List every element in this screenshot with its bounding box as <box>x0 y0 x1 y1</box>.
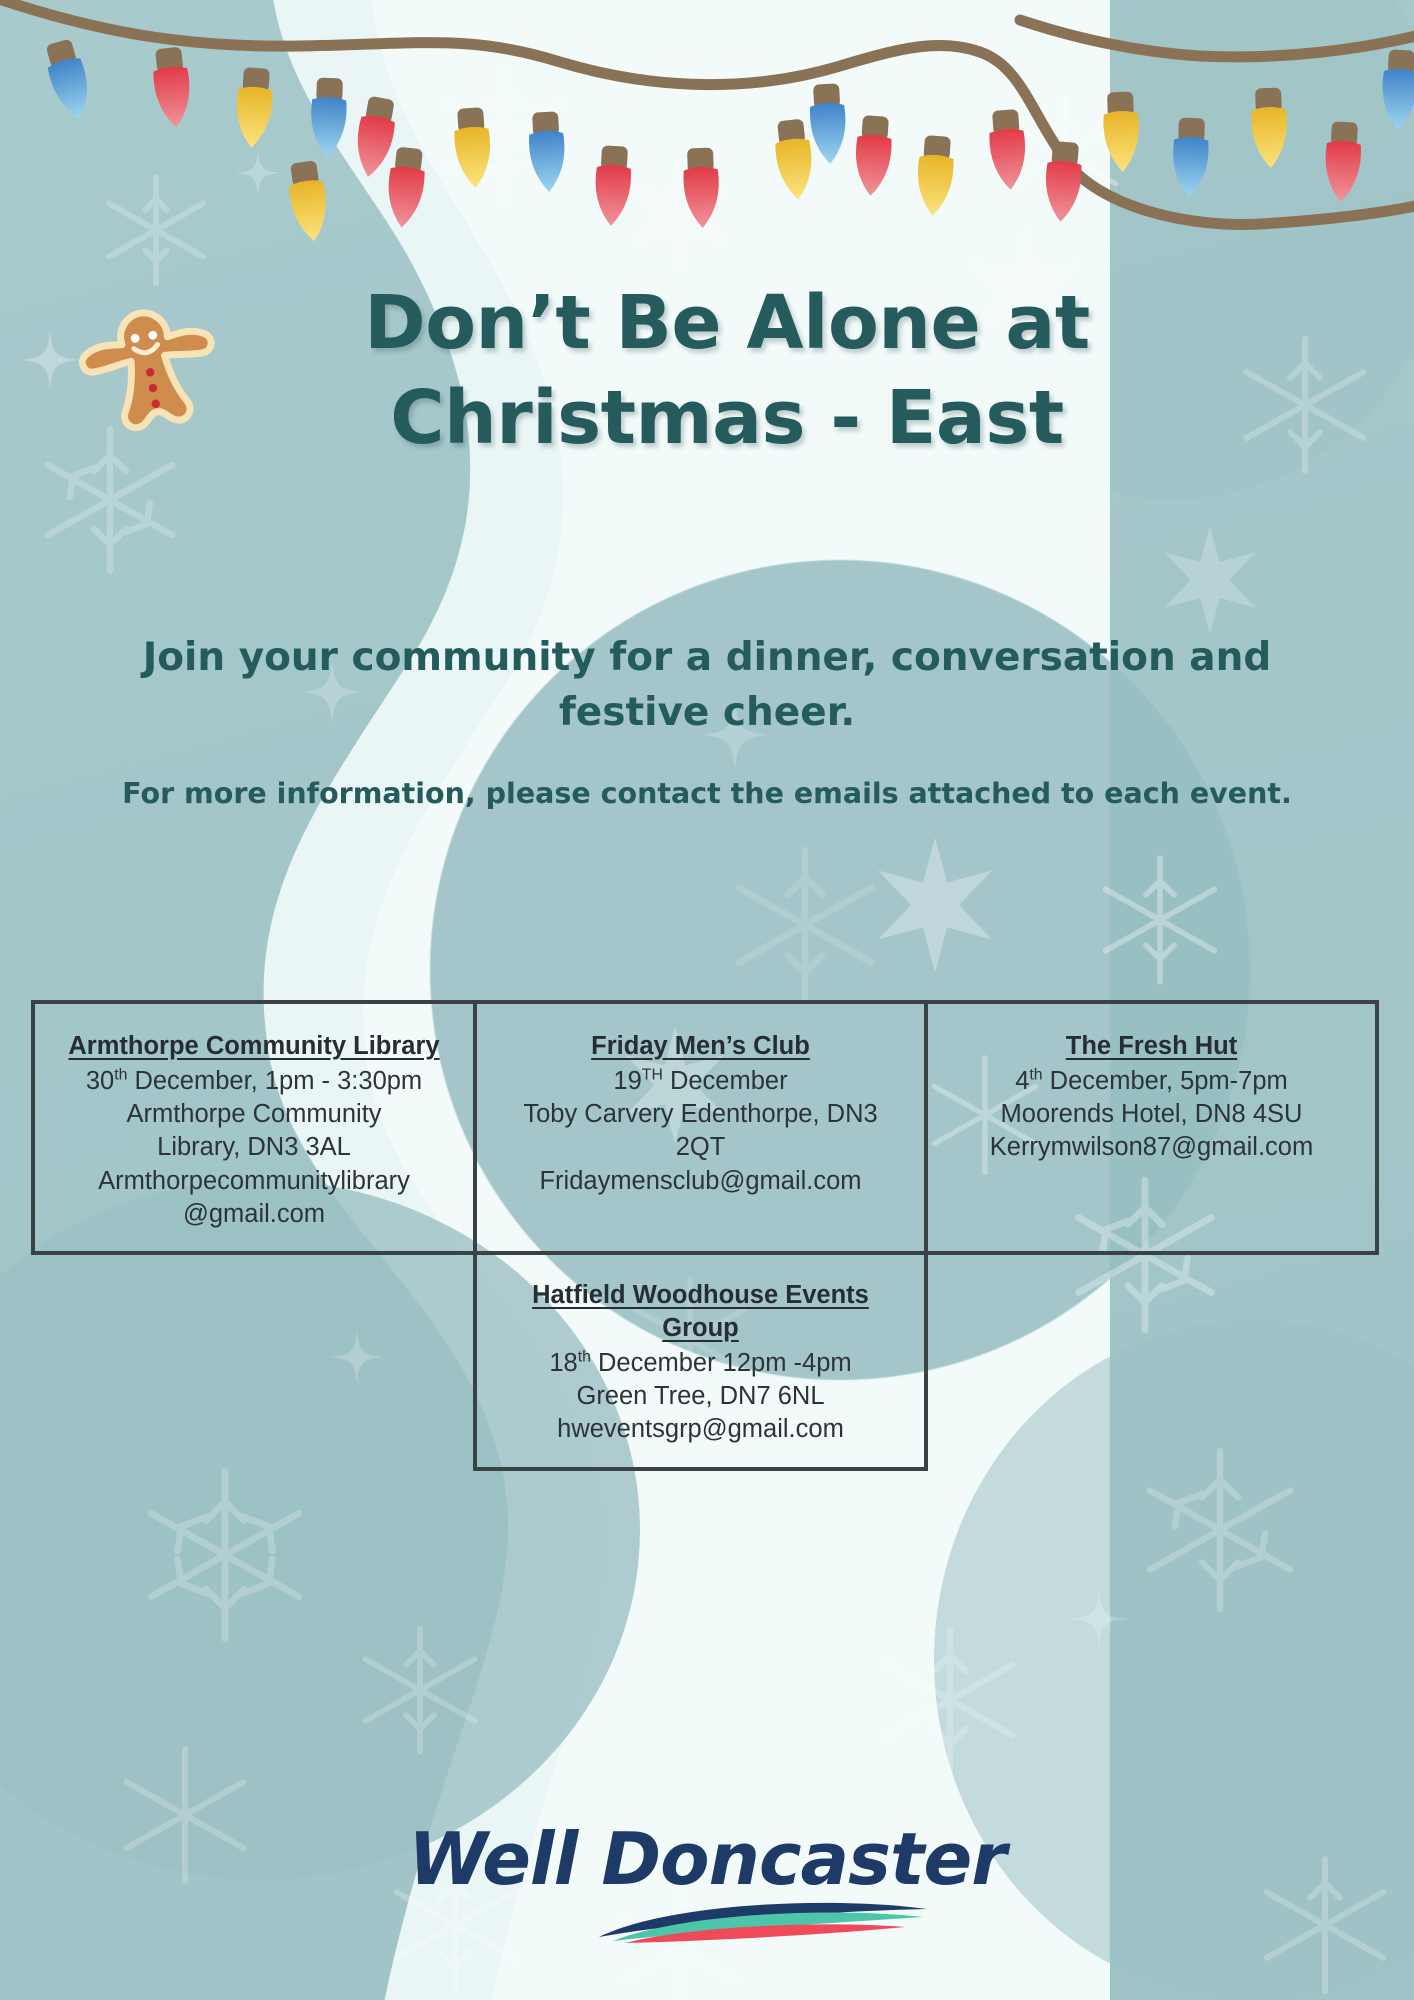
event-email-line-1[interactable]: Armthorpecommunitylibrary <box>49 1165 459 1198</box>
event-date-day: 18 <box>549 1349 577 1377</box>
event-email-line-2[interactable]: @gmail.com <box>49 1198 459 1231</box>
logo-text: Well Doncaster <box>0 1823 1414 1895</box>
event-title: Armthorpe Community Library <box>49 1030 459 1063</box>
event-date-day: 30 <box>86 1067 114 1095</box>
event-date-suffix: th <box>114 1067 127 1084</box>
string-lights-icon <box>0 0 1414 290</box>
event-title: The Fresh Hut <box>942 1030 1361 1063</box>
event-venue-line-1: Moorends Hotel, DN8 4SU <box>942 1098 1361 1131</box>
event-date-suffix: TH <box>642 1067 663 1084</box>
snowflake-icon <box>350 1620 490 1760</box>
snowflake-icon <box>130 1460 320 1650</box>
event-date-rest: December, 5pm-7pm <box>1043 1067 1288 1095</box>
brand-logo: Well Doncaster <box>0 1823 1414 1948</box>
title-line-2: Christmas - East <box>40 371 1414 466</box>
event-email-line-1[interactable]: Fridaymensclub@gmail.com <box>491 1165 910 1198</box>
snowflake-icon <box>1090 850 1230 990</box>
events-grid: Armthorpe Community Library 30th Decembe… <box>31 1000 1383 1471</box>
event-venue-line-2: 2QT <box>491 1131 910 1164</box>
event-title: Friday Men’s Club <box>491 1030 910 1063</box>
event-title-line-1: Hatfield Woodhouse Events <box>532 1281 869 1309</box>
event-venue-line-2: Library, DN3 3AL <box>49 1131 459 1164</box>
brand-swoosh-icon <box>593 1897 933 1943</box>
contact-note: For more information, please contact the… <box>40 775 1374 812</box>
event-card-friday-mens-club: Friday Men’s Club 19TH December Toby Car… <box>473 1000 928 1255</box>
event-date: 4th December, 5pm-7pm <box>942 1065 1361 1098</box>
snowflake-icon <box>1150 520 1270 640</box>
event-card-hatfield-woodhouse-events-group: Hatfield Woodhouse Events Group 18th Dec… <box>473 1251 928 1471</box>
event-date-suffix: th <box>1029 1067 1042 1084</box>
event-card-the-fresh-hut: The Fresh Hut 4th December, 5pm-7pm Moor… <box>924 1000 1379 1255</box>
event-date: 19TH December <box>491 1065 910 1098</box>
event-title-line-2: Group <box>662 1314 739 1342</box>
event-email-line-1[interactable]: Kerrymwilson87@gmail.com <box>942 1131 1361 1164</box>
event-date-rest: December, 1pm - 3:30pm <box>127 1067 422 1095</box>
event-card-armthorpe-community-library: Armthorpe Community Library 30th Decembe… <box>31 1000 477 1255</box>
snowflake-icon <box>870 1620 1030 1780</box>
sparkle-icon <box>1070 1590 1128 1648</box>
title-line-1: Don’t Be Alone at <box>364 280 1089 366</box>
snowflake-icon <box>860 830 1010 980</box>
event-date-suffix: th <box>578 1349 591 1366</box>
page-title: Don’t Be Alone at Christmas - East <box>0 276 1414 465</box>
event-title: Hatfield Woodhouse Events Group <box>491 1279 910 1345</box>
events-row-top: Armthorpe Community Library 30th Decembe… <box>31 1000 1383 1255</box>
event-email-line-1[interactable]: hweventsgrp@gmail.com <box>491 1413 910 1446</box>
subtitle: Join your community for a dinner, conver… <box>70 630 1344 741</box>
event-venue-line-1: Toby Carvery Edenthorpe, DN3 <box>491 1098 910 1131</box>
event-venue-line-1: Green Tree, DN7 6NL <box>491 1380 910 1413</box>
event-date-rest: December 12pm -4pm <box>591 1349 852 1377</box>
event-date: 18th December 12pm -4pm <box>491 1347 910 1380</box>
event-date-day: 4 <box>1015 1067 1029 1095</box>
event-date-rest: December <box>663 1067 788 1095</box>
events-row-bottom: Hatfield Woodhouse Events Group 18th Dec… <box>31 1255 1383 1471</box>
event-date-day: 19 <box>613 1067 641 1095</box>
event-venue-line-1: Armthorpe Community <box>49 1098 459 1131</box>
poster: Don’t Be Alone at Christmas - East Join … <box>0 0 1414 2000</box>
event-date: 30th December, 1pm - 3:30pm <box>49 1065 459 1098</box>
